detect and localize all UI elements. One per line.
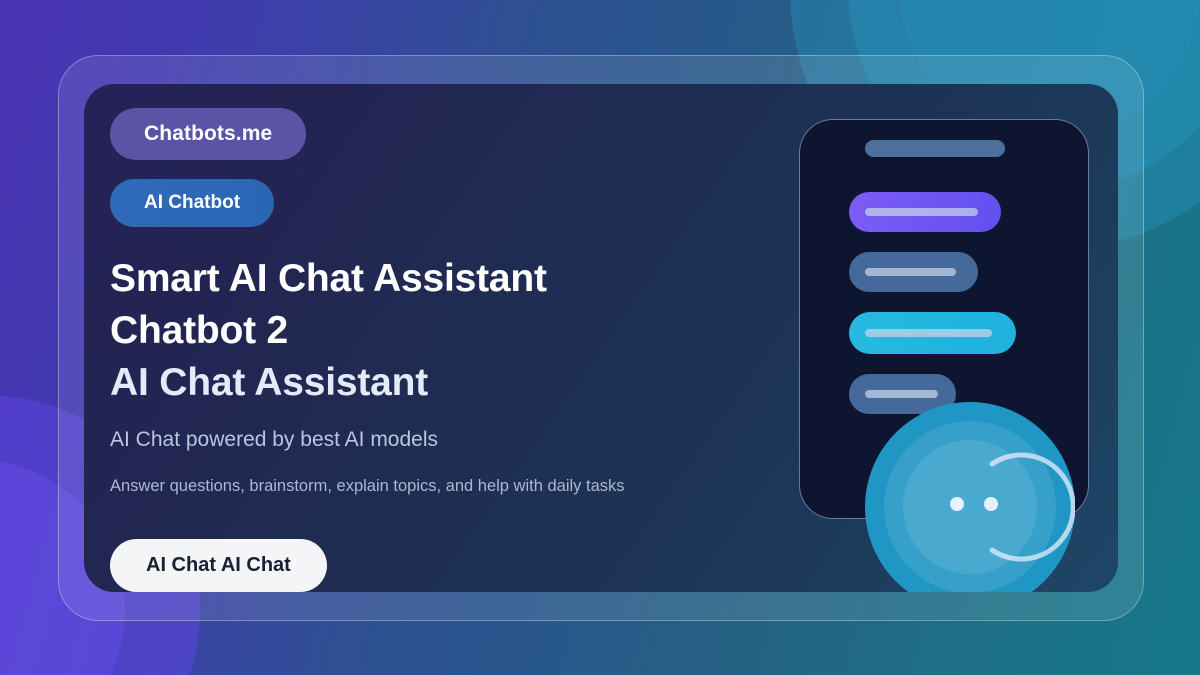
smiley-face-icon [865, 402, 1075, 592]
cta-button[interactable]: AI Chat AI Chat [110, 539, 327, 592]
headline-line-2: Chatbot 2 [110, 305, 810, 357]
chat-bubble-accent [849, 312, 1016, 354]
mockup-title-bar [865, 140, 1005, 157]
chat-bubble-text-line [865, 268, 956, 276]
chat-bubble-secondary [849, 252, 978, 292]
chat-bubble-text-line [865, 390, 938, 398]
description-text: Answer questions, brainstorm, explain to… [110, 475, 810, 497]
chat-bubble-primary [849, 192, 1001, 232]
page-title: Smart AI Chat Assistant Chatbot 2 AI Cha… [110, 253, 810, 409]
chat-bubble-text-line [865, 208, 978, 216]
brand-badge[interactable]: Chatbots.me [110, 108, 306, 160]
category-badge[interactable]: AI Chatbot [110, 179, 274, 227]
headline-line-1: Smart AI Chat Assistant [110, 253, 810, 305]
chat-bubble-text-line [865, 329, 992, 337]
headline-line-3: AI Chat Assistant [110, 357, 810, 409]
hero-card: Chatbots.me AI Chatbot Smart AI Chat Ass… [84, 84, 1118, 592]
hero-copy-column: Chatbots.me AI Chatbot Smart AI Chat Ass… [110, 108, 810, 592]
subtitle-text: AI Chat powered by best AI models [110, 426, 810, 453]
assistant-avatar[interactable] [865, 402, 1075, 592]
hero-banner: Chatbots.me AI Chatbot Smart AI Chat Ass… [0, 0, 1200, 675]
